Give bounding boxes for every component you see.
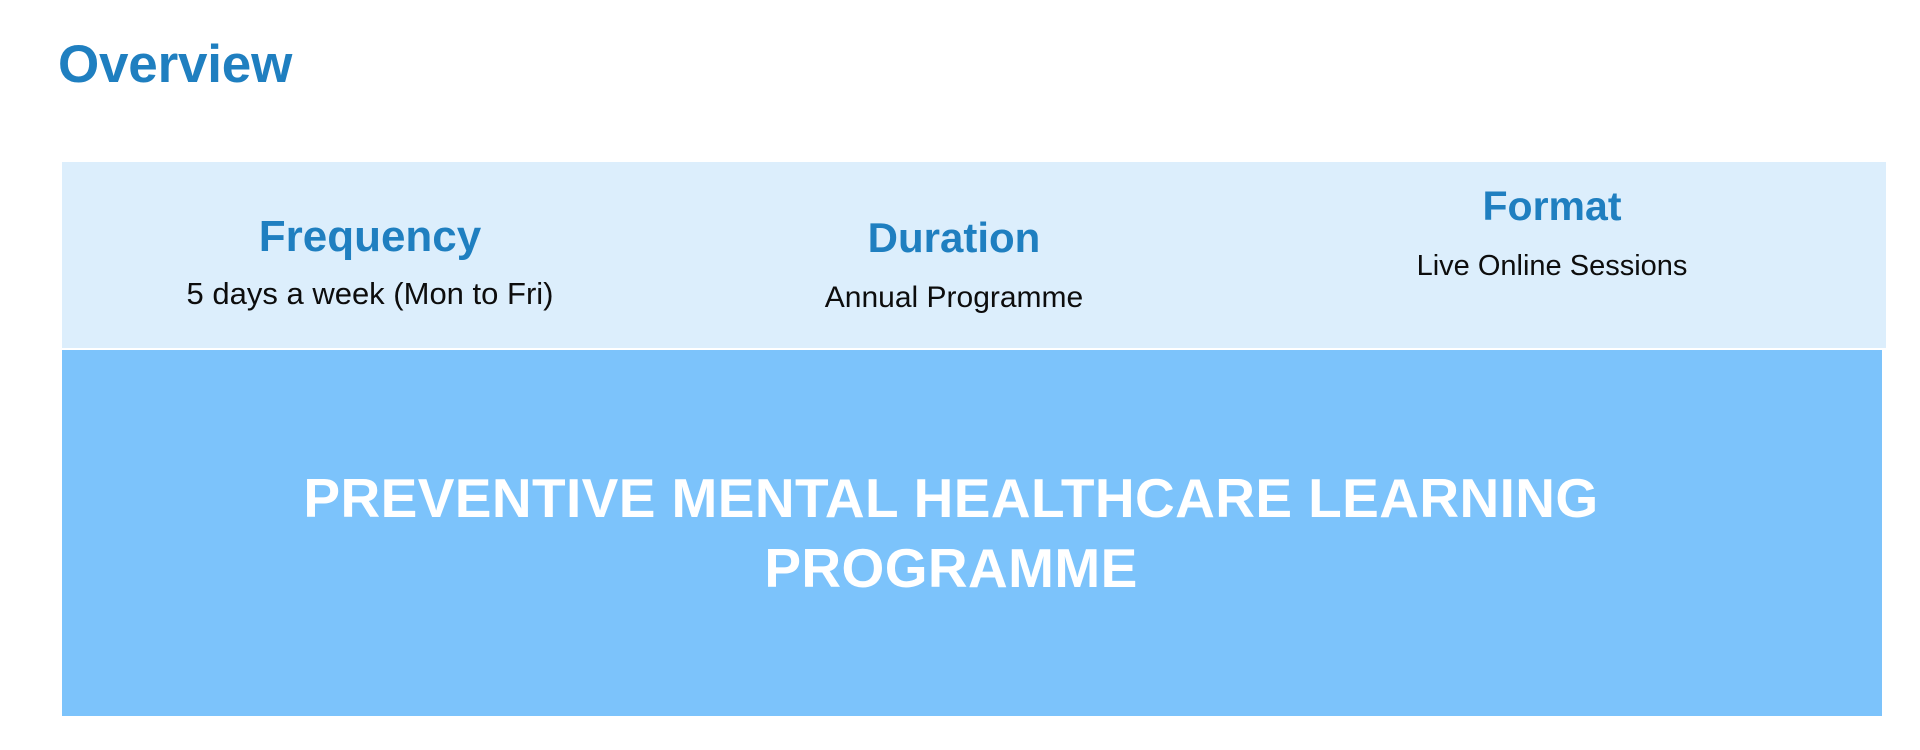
info-column-duration: Duration Annual Programme bbox=[694, 214, 1214, 316]
info-column-frequency: Frequency 5 days a week (Mon to Fri) bbox=[110, 212, 630, 312]
page-title: Overview bbox=[58, 36, 292, 94]
info-column-duration-value: Annual Programme bbox=[694, 280, 1214, 316]
programme-banner: PREVENTIVE MENTAL HEALTHCARE LEARNING PR… bbox=[62, 350, 1882, 716]
info-column-frequency-title: Frequency bbox=[110, 212, 630, 261]
info-column-duration-title: Duration bbox=[694, 214, 1214, 261]
programme-banner-title: PREVENTIVE MENTAL HEALTHCARE LEARNING PR… bbox=[141, 463, 1761, 604]
info-column-frequency-value: 5 days a week (Mon to Fri) bbox=[110, 275, 630, 312]
overview-page: Overview Frequency 5 days a week (Mon to… bbox=[0, 0, 1920, 750]
info-column-format-value: Live Online Sessions bbox=[1292, 249, 1812, 284]
info-column-format-title: Format bbox=[1292, 184, 1812, 230]
overview-info-panel: Frequency 5 days a week (Mon to Fri) Dur… bbox=[62, 162, 1886, 348]
info-column-format: Format Live Online Sessions bbox=[1292, 184, 1812, 284]
